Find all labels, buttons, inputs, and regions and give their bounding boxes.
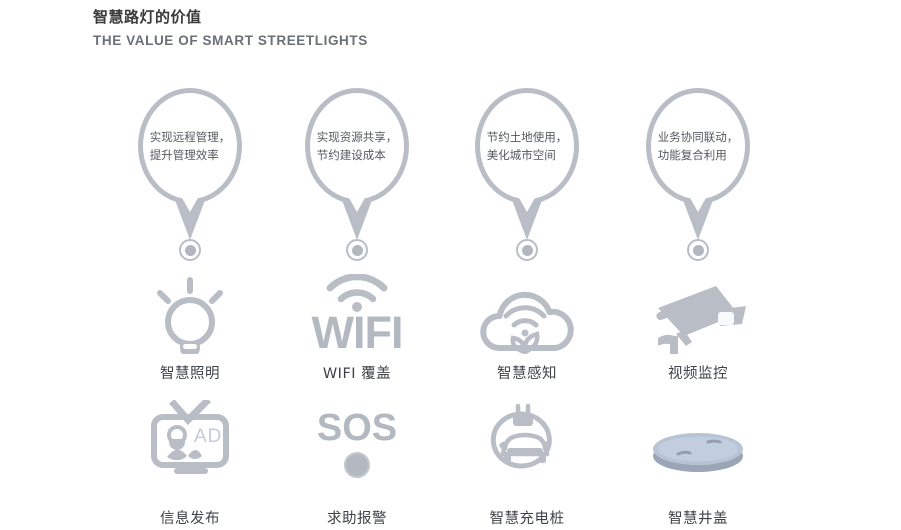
callout-pin: 实现远程管理， 提升管理效率 — [105, 88, 275, 238]
row1-label: 智慧照明 — [105, 362, 275, 383]
wifi-icon[interactable]: WIFI — [272, 272, 442, 354]
pin-tail-mask-icon — [340, 182, 374, 212]
sos-button-icon[interactable] — [344, 452, 370, 478]
pin-tail-mask-icon — [173, 182, 207, 212]
sos-wordmark: SOS — [317, 410, 397, 446]
pin-tail-mask-icon — [681, 182, 715, 212]
ad-display-icon[interactable]: AD — [105, 398, 275, 478]
target-dot-icon — [687, 239, 709, 261]
sos-icon[interactable]: SOS — [272, 398, 442, 478]
row2-label: 求助报警 — [272, 507, 442, 528]
row2-label: 智慧井盖 — [613, 507, 783, 528]
callout-pin: 业务协同联动， 功能复合利用 — [613, 88, 783, 238]
cctv-camera-icon[interactable] — [613, 272, 783, 354]
row1-label: WIFI 覆盖 — [272, 362, 442, 383]
pin-tail-mask-icon — [510, 182, 544, 212]
pin-bubble-text: 节约土地使用， 美化城市空间 — [487, 128, 568, 164]
target-dot-icon — [346, 239, 368, 261]
callout-pin: 节约土地使用， 美化城市空间 — [442, 88, 612, 238]
lightbulb-icon[interactable] — [105, 272, 275, 354]
columns-container: 实现远程管理， 提升管理效率 智慧照明 — [0, 0, 901, 530]
ev-charging-icon[interactable] — [442, 398, 612, 478]
slide-canvas: 智慧路灯的价值 THE VALUE OF SMART STREETLIGHTS … — [0, 0, 901, 530]
row1-label: 智慧感知 — [442, 362, 612, 383]
wifi-wordmark: WIFI — [312, 312, 403, 354]
pin-bubble-text: 实现资源共享， 节约建设成本 — [317, 128, 398, 164]
row1-label: 视频监控 — [613, 362, 783, 383]
row2-label: 信息发布 — [105, 507, 275, 528]
target-dot-icon — [179, 239, 201, 261]
manhole-cover-icon[interactable] — [613, 398, 783, 478]
target-dot-icon — [516, 239, 538, 261]
svg-text:AD: AD — [194, 426, 222, 447]
pin-bubble-text: 业务协同联动， 功能复合利用 — [658, 128, 739, 164]
cloud-sensing-icon[interactable] — [442, 272, 612, 354]
callout-pin: 实现资源共享， 节约建设成本 — [272, 88, 442, 238]
pin-bubble-text: 实现远程管理， 提升管理效率 — [150, 128, 231, 164]
row2-label: 智慧充电桩 — [442, 507, 612, 528]
